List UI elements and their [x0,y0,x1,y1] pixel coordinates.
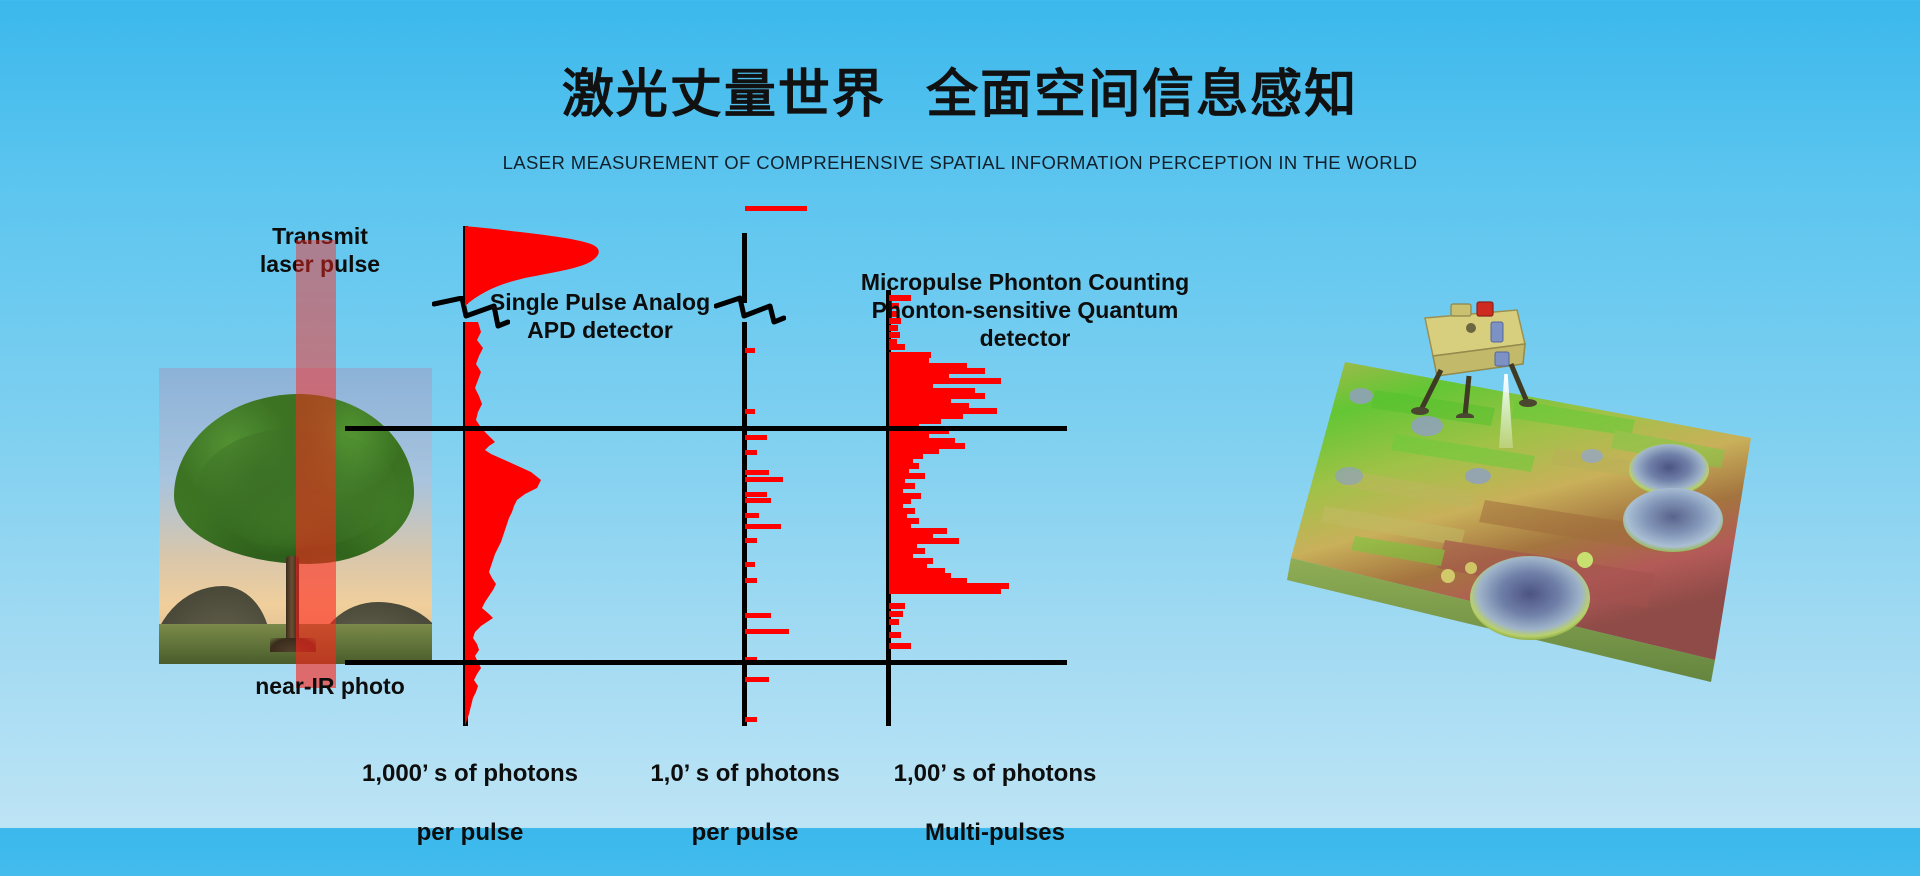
micropulse-detector-label: Micropulse Phonton Counting Phonton-sens… [825,268,1225,352]
micropulse-footnote-line1: 1,00’ s of photons [880,759,1110,788]
photon-bar [745,206,807,211]
poster-canvas: 激光丈量世界 全面空间信息感知 LASER MEASUREMENT OF COM… [0,0,1920,828]
photon-bar [745,450,757,455]
lidar-terrain-scene [1195,330,1755,750]
photon-bar [745,492,767,497]
analog-footnote-line2: per pulse [355,818,585,847]
photon-bar [745,629,789,634]
micropulse-footnote-line2: Multi-pulses [880,818,1110,847]
lunar-lander [1407,298,1539,418]
micropulse-footnote: 1,00’ s of photons Multi-pulses [880,730,1110,876]
photon-bar [889,603,905,609]
near-ir-photo-caption: near-IR photo [215,672,445,700]
photon-bar [745,477,783,482]
photon-bar [889,588,1001,594]
analog-detector-label: Single Pulse Analog APD detector [480,288,720,344]
page-subtitle: LASER MEASUREMENT OF COMPREHENSIVE SPATI… [0,152,1920,174]
photon-bar [889,611,903,617]
photon-bar [745,613,771,618]
photon-bar [889,619,899,625]
photon-bar [745,470,769,475]
photon-bar [745,562,755,567]
photon-bar [745,578,757,583]
photon-bar [745,498,771,503]
canopy-top-reference-line [345,426,1067,431]
page-title: 激光丈量世界 全面空间信息感知 [0,52,1920,127]
photon-bar [889,643,911,649]
analog-footnote: 1,000’ s of photons per pulse [355,730,585,876]
photon-bar [745,348,755,353]
discrete-footnote: 1,0’ s of photons per pulse [630,730,860,876]
analog-footnote-line1: 1,000’ s of photons [355,759,585,788]
photon-bar [889,632,901,638]
photon-bar [745,717,757,722]
laser-beam-column [296,240,336,688]
analog-return-waveform [465,322,605,726]
discrete-footnote-line1: 1,0’ s of photons [630,759,860,788]
photon-bar [745,435,767,440]
photon-bar [745,538,757,543]
photon-bar [745,524,781,529]
discrete-axis-break-icon [714,292,786,328]
photon-bar [745,677,769,682]
photon-bar [745,409,755,414]
discrete-footnote-line2: per pulse [630,818,860,847]
ground-reference-line [345,660,1067,665]
photon-bar [745,513,759,518]
